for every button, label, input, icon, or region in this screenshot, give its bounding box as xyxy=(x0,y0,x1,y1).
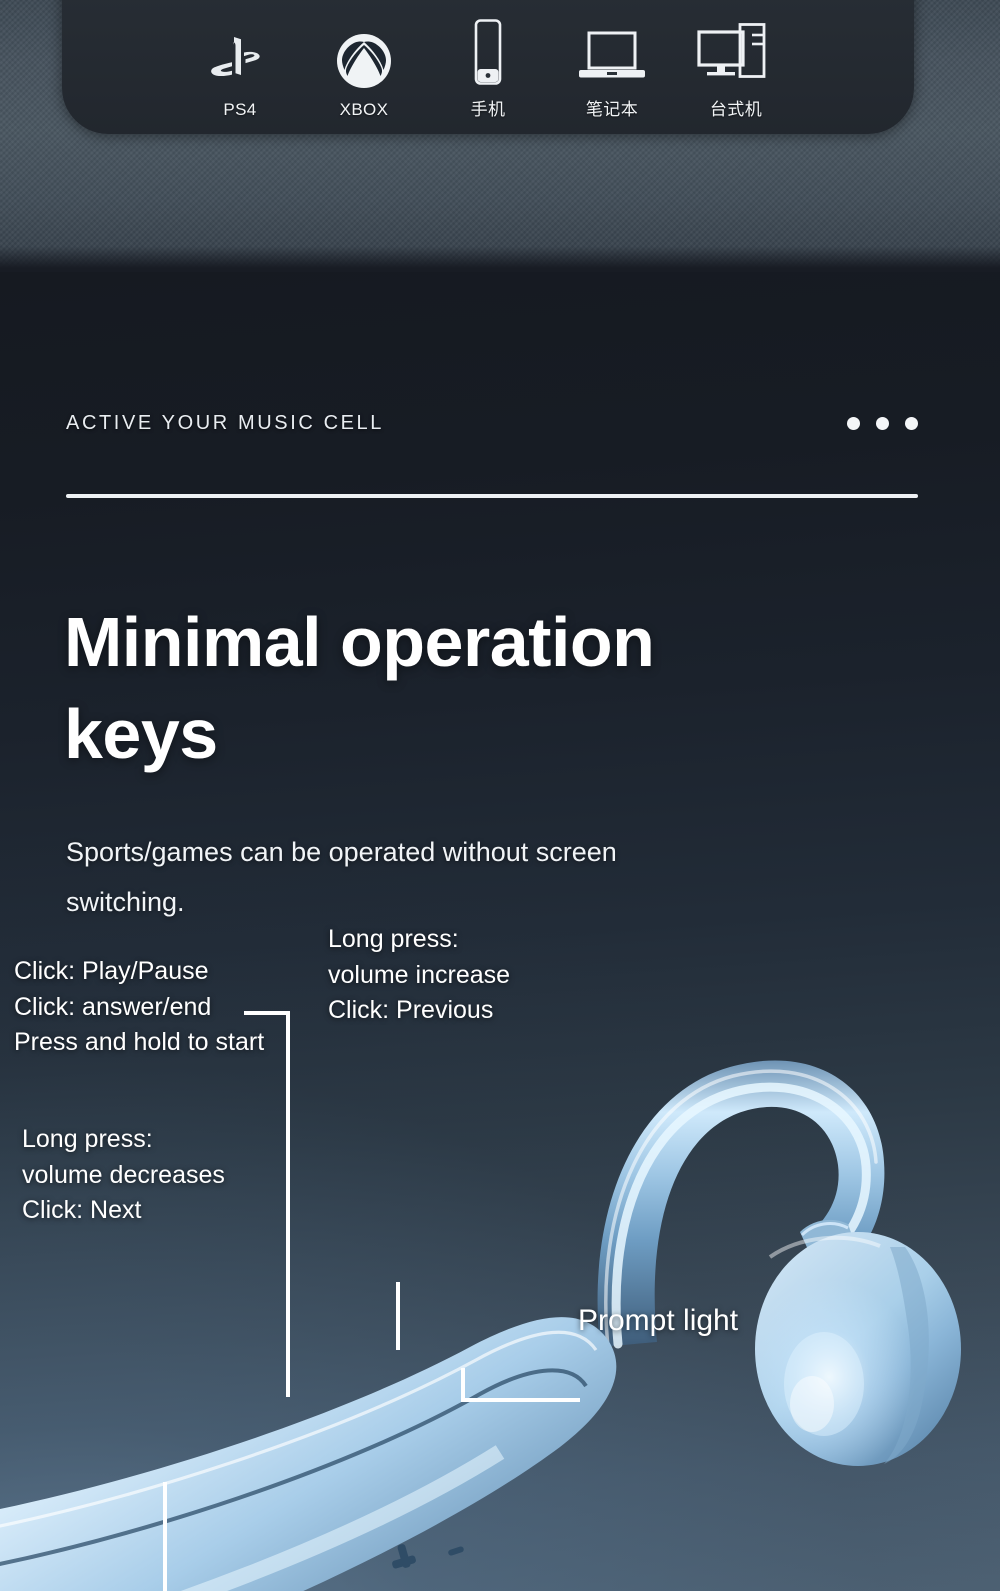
eyebrow-row: ACTIVE YOUR MUSIC CELL xyxy=(66,412,918,435)
smartphone-icon xyxy=(468,19,508,85)
device-label: XBOX xyxy=(340,100,389,120)
annotation-multifunction-button: Click: Play/Pause Click: answer/end Pres… xyxy=(14,954,264,1061)
annotation-line: volume increase xyxy=(328,958,510,994)
playstation-logo-icon xyxy=(208,24,272,90)
annotation-line: Click: Previous xyxy=(328,993,510,1029)
device-item-desktop[interactable]: 台式机 xyxy=(674,19,798,120)
feature-section: ACTIVE YOUR MUSIC CELL Minimal operation… xyxy=(0,272,1000,1591)
device-item-laptop[interactable]: 笔记本 xyxy=(550,19,674,120)
annotation-line: Long press: xyxy=(328,922,510,958)
annotation-volume-down-button: Long press: volume decreases Click: Next xyxy=(22,1122,225,1229)
device-pill-panel: PS4 XBOX xyxy=(62,0,914,134)
annotation-prompt-light: Prompt light xyxy=(578,1300,738,1343)
device-label: 手机 xyxy=(471,95,506,120)
laptop-icon xyxy=(577,19,647,85)
dot-icon xyxy=(847,417,860,430)
desktop-computer-icon xyxy=(696,19,776,85)
annotation-line: Press and hold to start xyxy=(14,1025,264,1061)
device-compatibility-banner: PS4 XBOX xyxy=(0,0,1000,272)
annotation-line: Click: Next xyxy=(22,1193,225,1229)
device-item-xbox[interactable]: XBOX xyxy=(302,24,426,120)
device-item-phone[interactable]: 手机 xyxy=(426,19,550,120)
eyebrow-dots xyxy=(847,417,918,430)
annotation-line: Long press: xyxy=(22,1122,225,1158)
device-item-ps4[interactable]: PS4 xyxy=(178,24,302,120)
dot-icon xyxy=(876,417,889,430)
annotation-line: volume decreases xyxy=(22,1158,225,1194)
annotation-volume-up-button: Long press: volume increase Click: Previ… xyxy=(328,922,510,1029)
device-label: 台式机 xyxy=(710,95,762,120)
horizontal-rule xyxy=(66,494,918,498)
page-title: Minimal operation keys xyxy=(64,596,764,781)
annotation-line: Click: answer/end xyxy=(14,990,264,1026)
device-label: PS4 xyxy=(223,100,256,120)
device-label: 笔记本 xyxy=(586,95,638,120)
annotation-line: Click: Play/Pause xyxy=(14,954,264,990)
subtitle: Sports/games can be operated without scr… xyxy=(66,828,646,927)
xbox-logo-icon xyxy=(335,24,393,90)
dot-icon xyxy=(905,417,918,430)
device-list: PS4 XBOX xyxy=(62,19,914,120)
eyebrow-title: ACTIVE YOUR MUSIC CELL xyxy=(66,412,384,435)
